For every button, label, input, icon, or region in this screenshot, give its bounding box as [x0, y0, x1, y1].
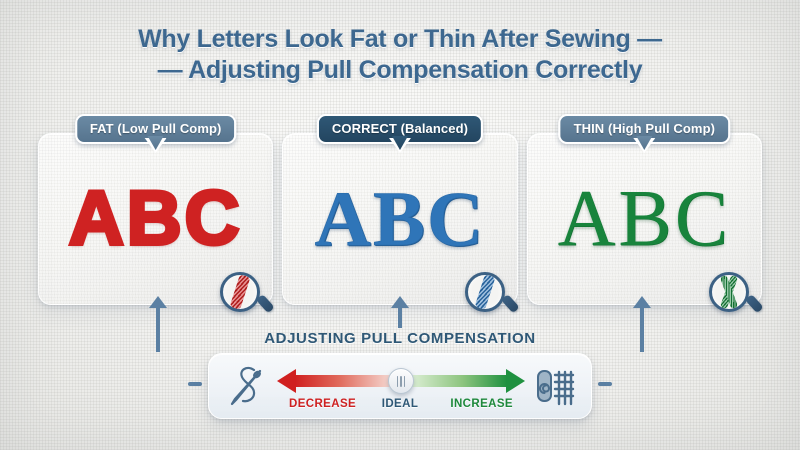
sample-text-fat: ABC	[39, 181, 272, 257]
callout-correct-label: CORRECT (Balanced)	[332, 121, 468, 136]
connector-arrow-head	[149, 296, 167, 308]
sample-text-correct: ABC	[283, 180, 516, 258]
increase-arrow	[409, 375, 507, 387]
magnifier-icon-fat[interactable]	[220, 272, 266, 318]
pull-compensation-track[interactable]	[277, 371, 525, 391]
label-ideal: IDEAL	[382, 398, 419, 410]
page-title-line-2: — Adjusting Pull Compensation Correctly	[0, 55, 800, 86]
magnifier-icon-thin[interactable]	[709, 272, 755, 318]
panel-fat[interactable]: FAT (Low Pull Comp) ABC	[38, 133, 273, 305]
thread-strand	[474, 274, 495, 310]
label-increase: INCREASE	[450, 398, 513, 410]
magnifier-handle	[256, 294, 275, 313]
pull-compensation-slider-card[interactable]: DECREASE IDEAL INCREASE	[208, 353, 592, 419]
slider-handle[interactable]	[388, 368, 414, 394]
magnifier-icon-correct[interactable]	[465, 272, 511, 318]
callout-thin: THIN (High Pull Comp)	[559, 114, 730, 144]
grip-line	[400, 376, 402, 387]
connector-arrow-left	[156, 306, 160, 352]
connector-arrow-center	[398, 306, 402, 328]
rule-dash-left	[188, 382, 202, 386]
panel-thin[interactable]: THIN (High Pull Comp) ABC	[527, 133, 762, 305]
magnifier-lens	[220, 272, 260, 312]
fabric-roll-icon	[533, 363, 579, 409]
sample-panels-row: FAT (Low Pull Comp) ABC CORRECT (Balance…	[38, 133, 762, 305]
infographic-stage: Why Letters Look Fat or Thin After Sewin…	[0, 0, 800, 450]
page-title-line-1: Why Letters Look Fat or Thin After Sewin…	[0, 24, 800, 55]
label-decrease: DECREASE	[289, 398, 356, 410]
connector-arrow-head	[633, 296, 651, 308]
panel-correct[interactable]: CORRECT (Balanced) ABC	[282, 133, 517, 305]
magnifier-handle	[745, 294, 764, 313]
decrease-arrow	[295, 375, 393, 387]
grip-line	[397, 376, 399, 387]
sample-text-thin: ABC	[528, 179, 761, 259]
magnifier-handle	[501, 294, 520, 313]
magnifier-lens	[465, 272, 505, 312]
page-title: Why Letters Look Fat or Thin After Sewin…	[0, 24, 800, 86]
connector-arrow-head	[391, 296, 409, 308]
control-heading: ADJUSTING PULL COMPENSATION	[0, 330, 800, 347]
connector-arrow-right	[640, 306, 644, 352]
rule-dash-right	[598, 382, 612, 386]
callout-fat-label: FAT (Low Pull Comp)	[90, 121, 222, 136]
grip-line	[404, 376, 406, 387]
callout-fat: FAT (Low Pull Comp)	[75, 114, 237, 144]
needle-and-thread-icon	[223, 362, 271, 410]
callout-correct: CORRECT (Balanced)	[317, 114, 483, 144]
callout-thin-label: THIN (High Pull Comp)	[574, 121, 715, 136]
magnifier-lens	[709, 272, 749, 312]
